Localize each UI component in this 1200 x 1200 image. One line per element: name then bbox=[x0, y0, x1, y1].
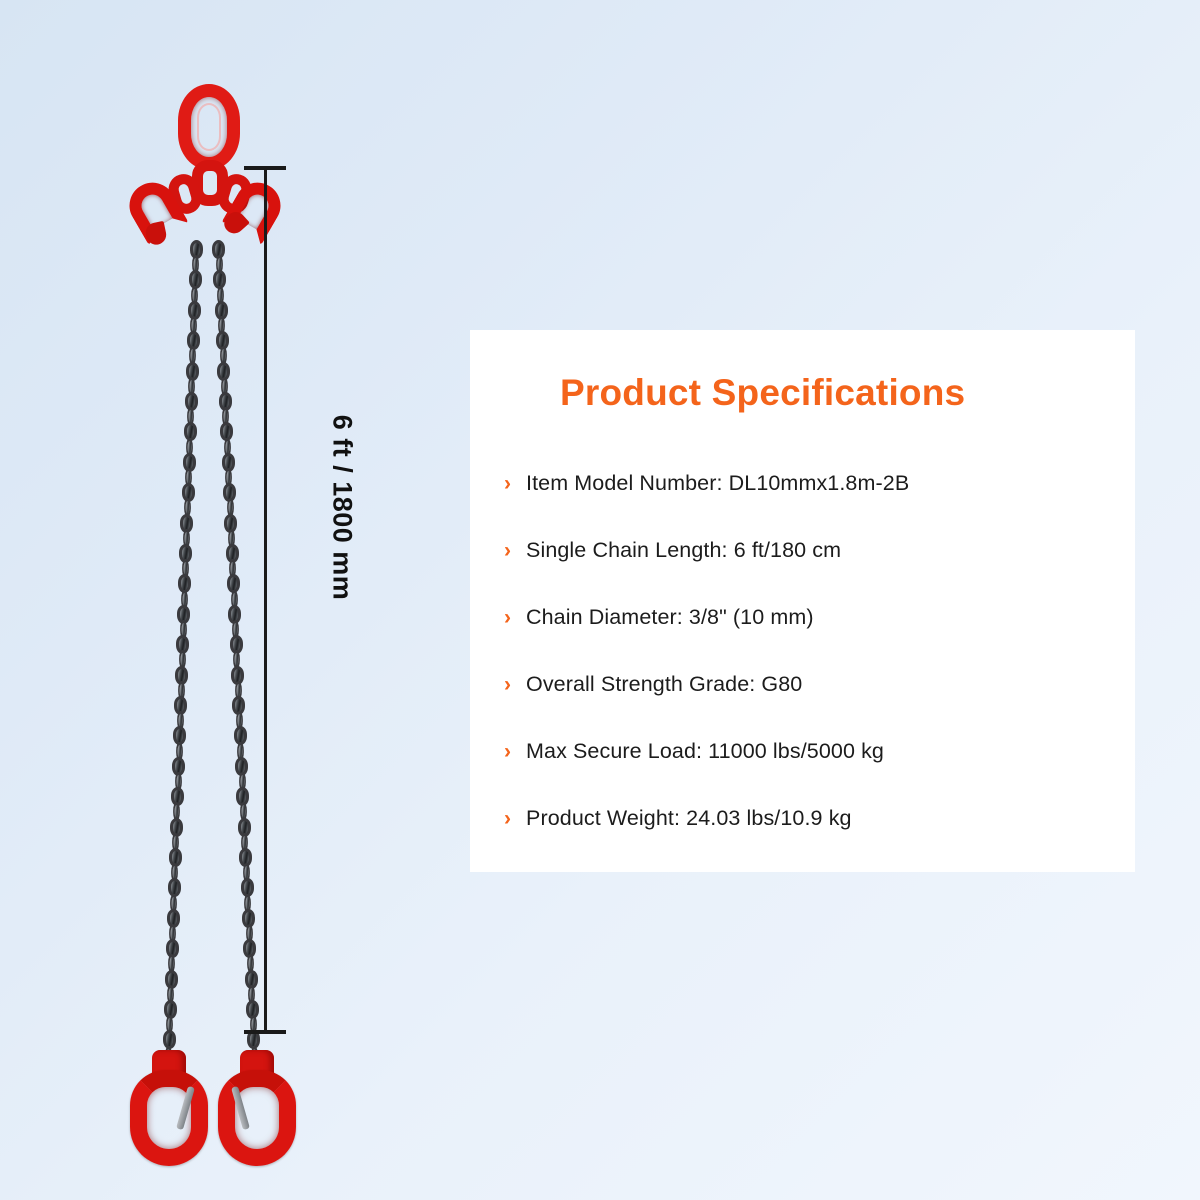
product-infographic: 6 ft / 1800 mm Product Specifications ›I… bbox=[0, 0, 1200, 1200]
chevron-right-icon: › bbox=[504, 674, 526, 695]
product-image bbox=[100, 70, 360, 1180]
chevron-right-icon: › bbox=[504, 808, 526, 829]
chevron-right-icon: › bbox=[504, 473, 526, 494]
spec-item: ›Overall Strength Grade: G80 bbox=[504, 651, 1124, 718]
spec-item-label: Product Weight: 24.03 lbs/10.9 kg bbox=[526, 806, 852, 831]
spec-card-title: Product Specifications bbox=[560, 372, 965, 414]
slip-hook-left-icon bbox=[130, 1070, 208, 1166]
spec-item: ›Max Secure Load: 11000 lbs/5000 kg bbox=[504, 718, 1124, 785]
spec-item-label: Single Chain Length: 6 ft/180 cm bbox=[526, 538, 841, 563]
spec-item: ›Single Chain Length: 6 ft/180 cm bbox=[504, 517, 1124, 584]
chain-leg-right bbox=[100, 70, 360, 1180]
spec-card: Product Specifications ›Item Model Numbe… bbox=[470, 330, 1135, 872]
spec-item: ›Item Model Number: DL10mmx1.8m-2B bbox=[504, 450, 1124, 517]
spec-item-label: Item Model Number: DL10mmx1.8m-2B bbox=[526, 471, 909, 496]
spec-item-label: Chain Diameter: 3/8" (10 mm) bbox=[526, 605, 814, 630]
spec-item: ›Chain Diameter: 3/8" (10 mm) bbox=[504, 584, 1124, 651]
chevron-right-icon: › bbox=[504, 741, 526, 762]
spec-item-label: Max Secure Load: 11000 lbs/5000 kg bbox=[526, 739, 884, 764]
spec-list: ›Item Model Number: DL10mmx1.8m-2B›Singl… bbox=[504, 450, 1124, 852]
spec-item: ›Product Weight: 24.03 lbs/10.9 kg bbox=[504, 785, 1124, 852]
slip-hook-right-icon bbox=[218, 1070, 296, 1166]
spec-item-label: Overall Strength Grade: G80 bbox=[526, 672, 802, 697]
chevron-right-icon: › bbox=[504, 607, 526, 628]
chevron-right-icon: › bbox=[504, 540, 526, 561]
